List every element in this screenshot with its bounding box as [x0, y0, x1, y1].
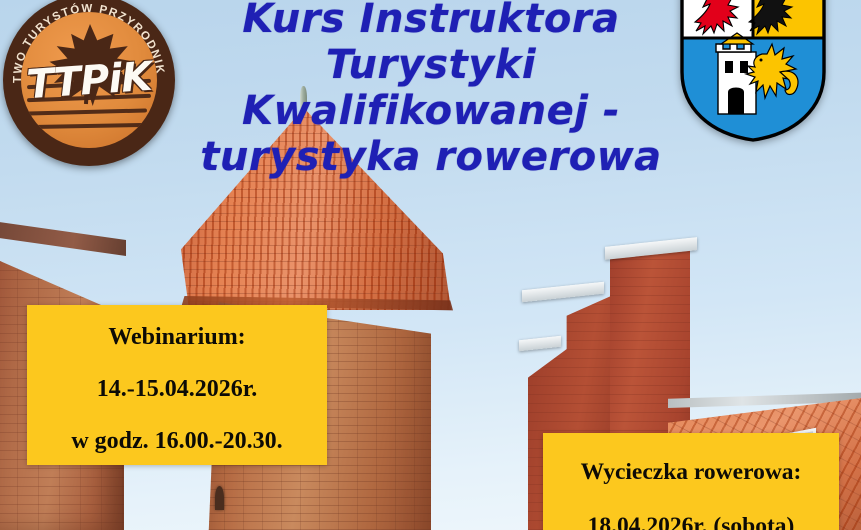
page-title: Kurs Instruktora Turystyki Kwalifikowane… — [176, 0, 686, 180]
title-line-3: Kwalifikowanej - — [176, 88, 686, 134]
title-line-2: Turystyki — [176, 42, 686, 88]
furrow-line — [27, 108, 147, 115]
title-line-1: Kurs Instruktora — [176, 0, 686, 42]
trip-date: 18.04.2026r. (sobota) — [543, 499, 839, 530]
logo-acronym: TTPiK — [21, 53, 157, 108]
poster: TOWARZYSTWO TURYSTÓW PRZYRODNIKÓW I KRAJ… — [0, 0, 861, 530]
furrow-line — [31, 123, 143, 129]
webinar-hours: w godz. 16.00.-20.30. — [27, 415, 327, 467]
tower-window — [215, 486, 224, 510]
webinar-heading: Webinarium: — [27, 311, 327, 363]
coat-of-arms — [676, 0, 830, 142]
webinar-info-box: Webinarium: 14.-15.04.2026r. w godz. 16.… — [27, 305, 327, 465]
webinar-dates: 14.-15.04.2026r. — [27, 363, 327, 415]
ttpik-logo: TOWARZYSTWO TURYSTÓW PRZYRODNIKÓW I KRAJ… — [3, 0, 175, 166]
logo-disc: TTPiK — [21, 12, 157, 148]
trip-heading: Wycieczka rowerowa: — [543, 445, 839, 499]
bike-trip-info-box: Wycieczka rowerowa: 18.04.2026r. (sobota… — [543, 433, 839, 530]
title-line-4: turystyka rowerowa — [176, 134, 686, 180]
